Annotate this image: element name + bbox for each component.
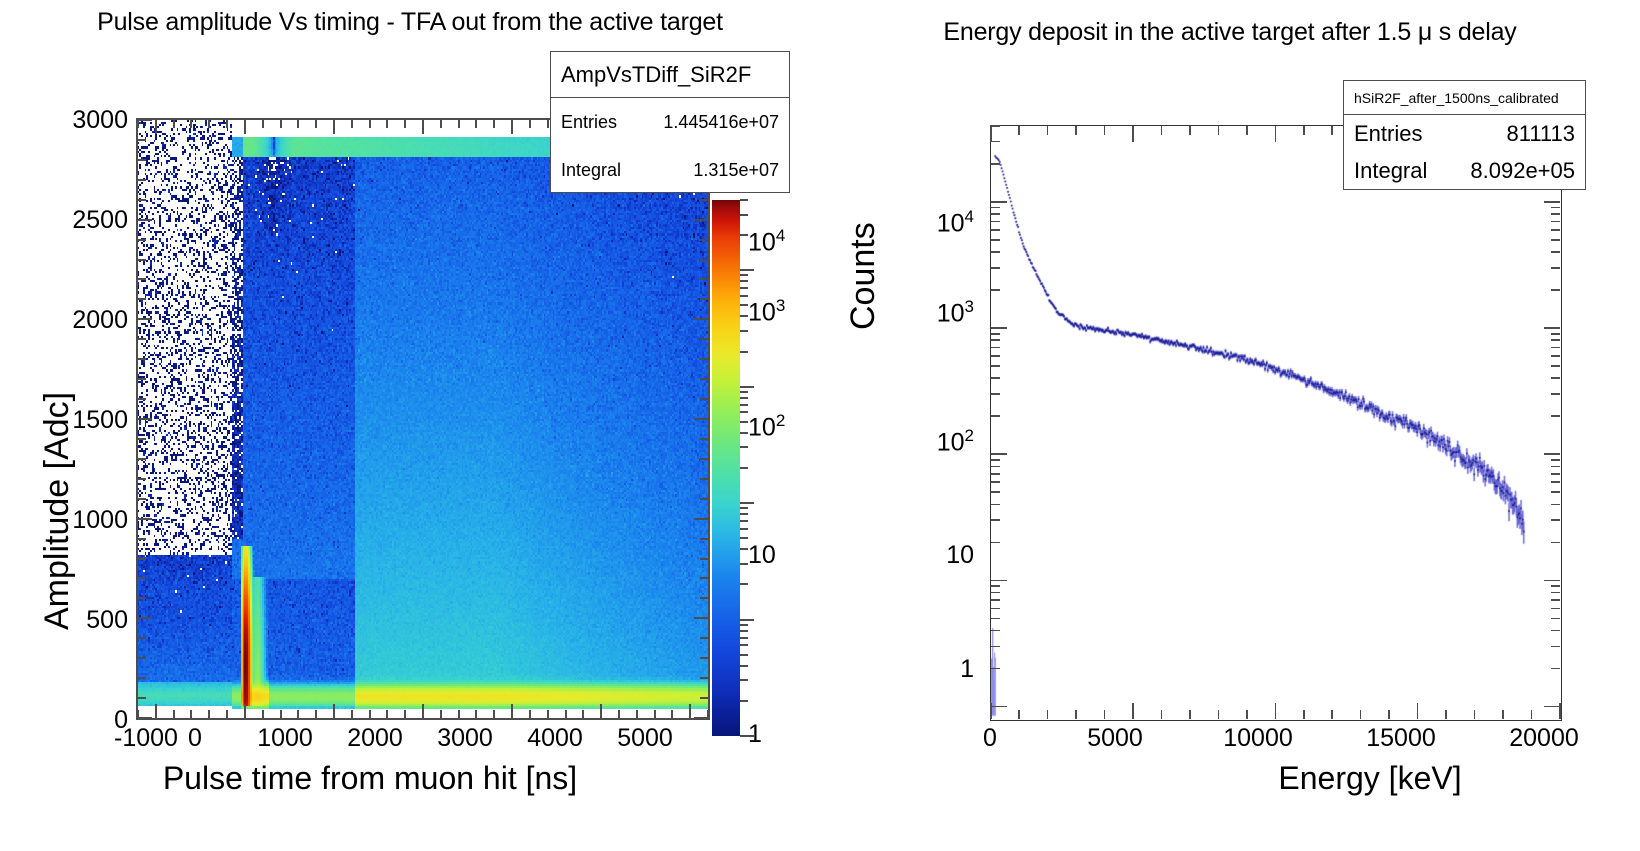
axis-tick	[1551, 355, 1560, 357]
axis-tick	[694, 518, 708, 520]
axis-tick	[280, 120, 282, 128]
axis-tick	[1303, 126, 1305, 135]
axis-tick	[991, 504, 1000, 506]
axis-tick	[244, 704, 246, 718]
axis-tick	[636, 710, 638, 718]
axis-tick	[1018, 126, 1020, 135]
axis-tick	[991, 608, 1000, 610]
axis-tick	[190, 120, 192, 128]
right-plot-title: Energy deposit in the active target afte…	[820, 18, 1640, 47]
left-stats-row-entries: Entries 1.445416e+07	[551, 98, 789, 146]
right-y-tick-1000: 103	[890, 297, 974, 328]
axis-tick	[138, 418, 152, 420]
axis-tick	[991, 542, 1000, 544]
axis-tick	[547, 120, 549, 128]
axis-tick	[493, 710, 495, 718]
axis-tick	[369, 120, 371, 128]
left-x-tick-4000: 4000	[510, 724, 600, 753]
right-x-tick-20000: 20000	[1499, 724, 1589, 753]
axis-tick	[138, 538, 146, 540]
axis-tick	[547, 710, 549, 718]
axis-tick	[700, 637, 708, 639]
axis-tick	[1189, 126, 1191, 135]
axis-tick	[1047, 710, 1049, 719]
axis-tick	[1275, 126, 1277, 142]
left-z-tick-10000: 104	[748, 226, 785, 257]
axis-tick	[991, 706, 1007, 708]
axis-tick	[1246, 710, 1248, 719]
axis-tick	[138, 159, 146, 161]
axis-tick	[991, 580, 1007, 582]
axis-tick	[991, 289, 1000, 291]
axis-tick	[991, 221, 1000, 223]
colorbar-tick	[740, 234, 748, 236]
right-stats-value-integral: 8.092e+05	[1470, 158, 1575, 184]
axis-tick	[1551, 229, 1560, 231]
axis-tick	[1551, 207, 1560, 209]
colorbar-tick	[740, 386, 754, 388]
axis-tick	[493, 120, 495, 128]
axis-tick	[1551, 599, 1560, 601]
right-stats-row-integral: Integral 8.092e+05	[1344, 152, 1585, 189]
axis-tick	[991, 355, 1000, 357]
colorbar-tick	[740, 679, 748, 681]
left-z-tick-1000: 103	[748, 296, 785, 327]
axis-tick	[138, 597, 146, 599]
axis-tick	[991, 630, 1000, 632]
left-plot-title: Pulse amplitude Vs timing - TFA out from…	[0, 8, 820, 37]
colorbar-tick	[740, 630, 748, 632]
colorbar-tick	[740, 391, 748, 393]
axis-tick	[138, 717, 152, 719]
axis-tick	[138, 577, 146, 579]
axis-tick	[138, 219, 152, 221]
axis-tick	[990, 126, 992, 142]
axis-tick	[138, 179, 146, 181]
axis-tick	[1388, 710, 1390, 719]
right-x-tick-15000: 15000	[1356, 724, 1446, 753]
axis-tick	[707, 710, 709, 718]
axis-tick	[700, 657, 708, 659]
colorbar-tick	[740, 304, 748, 306]
axis-tick	[244, 120, 246, 134]
left-z-tick-100: 102	[748, 411, 785, 442]
colorbar-tick	[740, 280, 748, 282]
axis-tick	[404, 710, 406, 718]
axis-tick	[458, 710, 460, 718]
left-stats-box[interactable]: AmpVsTDiff_SiR2F Entries 1.445416e+07 In…	[550, 51, 790, 193]
left-stats-key-entries: Entries	[561, 112, 617, 133]
axis-tick	[262, 710, 264, 718]
colorbar-tick	[740, 644, 748, 646]
left-y-tick-1500: 1500	[46, 406, 128, 435]
axis-tick	[369, 710, 371, 718]
axis-tick	[700, 398, 708, 400]
axis-tick	[1551, 519, 1560, 521]
axis-tick	[138, 119, 152, 121]
axis-tick	[991, 599, 1000, 601]
left-y-tick-500: 500	[46, 606, 128, 635]
left-stats-title: AmpVsTDiff_SiR2F	[551, 52, 789, 98]
axis-tick	[138, 318, 152, 320]
colorbar-tick	[740, 583, 748, 585]
axis-tick	[1544, 706, 1560, 708]
axis-tick	[991, 207, 1000, 209]
axis-tick	[991, 251, 1000, 253]
axis-tick	[991, 481, 1000, 483]
axis-tick	[600, 704, 602, 718]
axis-tick	[1445, 710, 1447, 719]
right-x-tick-10000: 10000	[1213, 724, 1303, 753]
axis-tick	[297, 120, 299, 128]
axis-tick	[137, 710, 139, 718]
axis-tick	[1551, 466, 1560, 468]
left-x-tick-3000: 3000	[420, 724, 510, 753]
axis-tick	[1275, 703, 1277, 719]
colorbar-tick	[740, 507, 748, 509]
right-y-tick-100: 102	[890, 426, 974, 457]
axis-tick	[582, 710, 584, 718]
axis-tick	[991, 668, 1000, 670]
axis-tick	[700, 338, 708, 340]
left-stats-value-integral: 1.315e+07	[693, 160, 779, 181]
colorbar-tick	[740, 214, 748, 216]
axis-tick	[1551, 213, 1560, 215]
axis-tick	[280, 710, 282, 718]
axis-tick	[138, 478, 146, 480]
colorbar-tick	[740, 654, 748, 656]
axis-tick	[475, 120, 477, 128]
axis-tick	[262, 120, 264, 128]
axis-tick	[138, 438, 146, 440]
axis-tick	[991, 267, 1000, 269]
colorbar-tick	[740, 421, 748, 423]
axis-tick	[1502, 710, 1504, 719]
axis-tick	[1551, 333, 1560, 335]
axis-tick	[654, 710, 656, 718]
left-y-tick-1000: 1000	[46, 506, 128, 535]
axis-tick	[138, 398, 146, 400]
axis-tick	[386, 710, 388, 718]
axis-tick	[991, 339, 1000, 341]
axis-tick	[991, 592, 1000, 594]
axis-tick	[1551, 251, 1560, 253]
colorbar-tick	[740, 513, 748, 515]
axis-tick	[991, 646, 1000, 648]
axis-tick	[700, 697, 708, 699]
axis-tick	[1474, 710, 1476, 719]
axis-tick	[138, 657, 146, 659]
axis-tick	[991, 491, 1000, 493]
left-stats-row-integral: Integral 1.315e+07	[551, 146, 789, 194]
axis-tick	[1551, 267, 1560, 269]
axis-tick	[694, 717, 708, 719]
axis-tick	[1551, 592, 1560, 594]
axis-tick	[689, 704, 691, 718]
axis-tick	[1551, 473, 1560, 475]
axis-tick	[991, 459, 1000, 461]
axis-tick	[700, 199, 708, 201]
left-stats-key-integral: Integral	[561, 160, 621, 181]
axis-tick	[700, 577, 708, 579]
left-y-tick-3000: 3000	[46, 106, 128, 135]
right-x-axis-title: Energy [keV]	[1150, 760, 1590, 797]
axis-tick	[694, 418, 708, 420]
axis-tick	[138, 498, 146, 500]
axis-tick	[333, 704, 335, 718]
colorbar-tick	[740, 199, 748, 201]
axis-tick	[991, 466, 1000, 468]
colorbar-tick	[740, 735, 754, 737]
axis-tick	[1559, 703, 1561, 719]
axis-tick	[1551, 668, 1560, 670]
colorbar-tick	[740, 537, 748, 539]
axis-tick	[991, 415, 1000, 417]
axis-tick	[1161, 710, 1163, 719]
axis-tick	[1531, 710, 1533, 719]
axis-tick	[991, 585, 1000, 587]
colorbar-tick	[740, 287, 748, 289]
axis-tick	[1551, 239, 1560, 241]
axis-tick	[190, 710, 192, 718]
axis-tick	[173, 710, 175, 718]
axis-tick	[1132, 703, 1134, 719]
colorbar-tick	[740, 624, 748, 626]
axis-tick	[404, 120, 406, 128]
colorbar-tick	[740, 619, 754, 621]
axis-tick	[138, 518, 152, 520]
axis-tick	[208, 710, 210, 718]
axis-tick	[991, 618, 1000, 620]
axis-tick	[333, 120, 335, 134]
amplitude-vs-time-heatmap	[138, 120, 708, 718]
axis-tick	[991, 229, 1000, 231]
right-stats-key-entries: Entries	[1354, 121, 1422, 147]
axis-tick	[991, 519, 1000, 521]
axis-tick	[991, 333, 1000, 335]
axis-tick	[700, 239, 708, 241]
axis-tick	[991, 365, 1000, 367]
axis-tick	[475, 710, 477, 718]
axis-tick	[422, 704, 424, 718]
axis-tick	[1551, 347, 1560, 349]
axis-tick	[458, 120, 460, 128]
axis-tick	[1551, 339, 1560, 341]
axis-tick	[1303, 710, 1305, 719]
axis-tick	[1161, 126, 1163, 135]
axis-tick	[700, 538, 708, 540]
colorbar-tick	[740, 274, 748, 276]
axis-tick	[1551, 608, 1560, 610]
colorbar-tick	[740, 467, 748, 469]
left-plot-panel: Pulse amplitude Vs timing - TFA out from…	[0, 0, 820, 851]
right-stats-key-integral: Integral	[1354, 158, 1427, 184]
axis-tick	[138, 199, 146, 201]
axis-tick	[700, 259, 708, 261]
energy-spectrum-plot	[991, 126, 1560, 719]
colorbar-tick	[740, 502, 754, 504]
axis-tick	[1544, 580, 1560, 582]
axis-tick	[700, 558, 708, 560]
axis-tick	[155, 704, 157, 718]
axis-tick	[226, 120, 228, 128]
axis-tick	[440, 710, 442, 718]
axis-tick	[991, 377, 1000, 379]
axis-tick	[1104, 710, 1106, 719]
axis-tick	[386, 120, 388, 128]
axis-tick	[991, 125, 1000, 127]
axis-tick	[138, 458, 146, 460]
axis-tick	[1551, 393, 1560, 395]
left-plot-frame	[136, 118, 710, 720]
colorbar-tick	[740, 700, 748, 702]
left-x-axis-title: Pulse time from muon hit [ns]	[0, 760, 740, 797]
axis-tick	[138, 338, 146, 340]
axis-tick	[694, 219, 708, 221]
right-plot-frame	[990, 125, 1562, 721]
colorbar-tick	[740, 665, 748, 667]
axis-tick	[1551, 646, 1560, 648]
axis-tick	[138, 677, 146, 679]
axis-tick	[1132, 126, 1134, 142]
colorbar-tick	[740, 520, 748, 522]
colorbar-tick	[740, 548, 748, 550]
axis-tick	[694, 318, 708, 320]
axis-tick	[1246, 126, 1248, 135]
axis-tick	[1551, 365, 1560, 367]
axis-tick	[138, 558, 146, 560]
axis-tick	[1551, 481, 1560, 483]
axis-tick	[991, 473, 1000, 475]
axis-tick	[1544, 453, 1560, 455]
axis-tick	[351, 120, 353, 128]
axis-tick	[173, 120, 175, 128]
axis-tick	[351, 710, 353, 718]
axis-tick	[700, 597, 708, 599]
colorbar-tick	[740, 404, 748, 406]
right-stats-value-entries: 811113	[1506, 121, 1575, 147]
axis-tick	[990, 703, 992, 719]
axis-tick	[315, 710, 317, 718]
axis-tick	[138, 239, 146, 241]
colorbar-tick	[740, 295, 748, 297]
right-stats-title: hSiR2F_after_1500ns_calibrated	[1344, 81, 1585, 115]
left-x-tick-2000: 2000	[330, 724, 420, 753]
axis-tick	[671, 710, 673, 718]
axis-tick	[1551, 289, 1560, 291]
axis-tick	[440, 120, 442, 128]
axis-tick	[1218, 710, 1220, 719]
axis-tick	[155, 120, 157, 134]
axis-tick	[1551, 585, 1560, 587]
axis-tick	[1104, 126, 1106, 135]
colorbar-tick	[740, 397, 748, 399]
axis-tick	[422, 120, 424, 134]
left-x-tick-5000: 5000	[600, 724, 690, 753]
axis-tick	[529, 120, 531, 128]
axis-tick	[1360, 710, 1362, 719]
axis-tick	[315, 120, 317, 128]
axis-tick	[137, 120, 139, 128]
axis-tick	[991, 239, 1000, 241]
colorbar-tick	[740, 528, 748, 530]
right-x-tick-0: 0	[945, 724, 1035, 753]
axis-tick	[1417, 703, 1419, 719]
axis-tick	[1047, 126, 1049, 135]
axis-tick	[1544, 201, 1560, 203]
z-axis-colorbar	[712, 200, 740, 736]
axis-tick	[138, 139, 146, 141]
axis-tick	[1551, 221, 1560, 223]
axis-tick	[991, 327, 1007, 329]
axis-tick	[700, 278, 708, 280]
axis-tick	[138, 378, 146, 380]
right-y-tick-10000: 104	[890, 207, 974, 238]
axis-tick	[1551, 542, 1560, 544]
axis-tick	[208, 120, 210, 128]
colorbar-tick	[740, 269, 754, 271]
axis-tick	[138, 637, 146, 639]
axis-tick	[1544, 327, 1560, 329]
colorbar-tick	[740, 351, 748, 353]
left-x-tick-1000: 1000	[240, 724, 330, 753]
axis-tick	[529, 710, 531, 718]
colorbar-tick	[740, 637, 748, 639]
right-y-axis-title: Counts	[844, 222, 883, 330]
axis-tick	[700, 358, 708, 360]
axis-tick	[1551, 630, 1560, 632]
axis-tick	[1075, 126, 1077, 135]
axis-tick	[1189, 710, 1191, 719]
axis-tick	[511, 120, 513, 134]
left-y-tick-2000: 2000	[46, 306, 128, 335]
axis-tick	[1551, 415, 1560, 417]
axis-tick	[1331, 126, 1333, 135]
right-y-tick-1: 1	[890, 655, 974, 684]
axis-tick	[991, 201, 1007, 203]
left-z-tick-10: 10	[748, 541, 776, 570]
axis-tick	[1551, 491, 1560, 493]
axis-tick	[1551, 459, 1560, 461]
colorbar-tick	[740, 446, 748, 448]
axis-tick	[297, 710, 299, 718]
axis-tick	[700, 438, 708, 440]
right-y-tick-10: 10	[890, 541, 974, 570]
axis-tick	[138, 298, 146, 300]
axis-tick	[1218, 126, 1220, 135]
axis-tick	[991, 393, 1000, 395]
axis-tick	[226, 710, 228, 718]
axis-tick	[138, 259, 146, 261]
colorbar-tick	[740, 411, 748, 413]
right-stats-box[interactable]: hSiR2F_after_1500ns_calibrated Entries 8…	[1343, 80, 1586, 190]
axis-tick	[1551, 618, 1560, 620]
right-plot-panel: Energy deposit in the active target afte…	[820, 0, 1640, 851]
axis-tick	[511, 704, 513, 718]
axis-tick	[1551, 504, 1560, 506]
right-x-tick-5000: 5000	[1070, 724, 1160, 753]
axis-tick	[991, 141, 1000, 143]
axis-tick	[138, 617, 152, 619]
axis-tick	[1075, 710, 1077, 719]
axis-tick	[1018, 710, 1020, 719]
axis-tick	[700, 378, 708, 380]
colorbar-tick	[740, 432, 748, 434]
axis-tick	[138, 358, 146, 360]
left-y-tick-2500: 2500	[46, 206, 128, 235]
axis-tick	[991, 347, 1000, 349]
axis-tick	[1551, 377, 1560, 379]
